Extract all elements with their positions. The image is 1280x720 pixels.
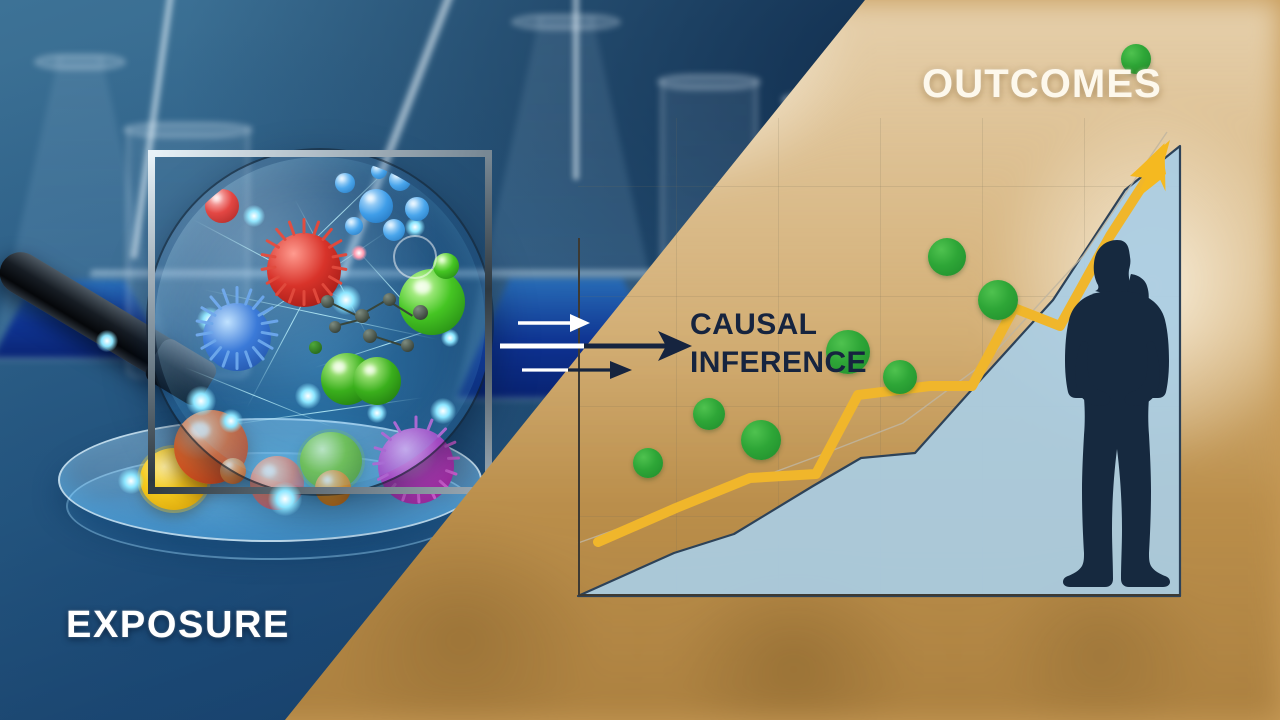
causal-inference-label: CAUSAL INFERENCE [690, 306, 920, 382]
green-large-sphere-icon [399, 269, 465, 335]
outcome-marker [741, 420, 781, 460]
red-spiky-virus-icon [267, 233, 341, 307]
bubble-icon [393, 235, 437, 279]
network-node [367, 403, 387, 423]
sparkle-icon [268, 482, 302, 516]
outcome-marker [928, 238, 966, 276]
red-small-sphere-icon [205, 189, 239, 223]
person-silhouette-icon [1035, 238, 1200, 596]
magnifier-icon [148, 150, 492, 494]
sparkle-icon [118, 468, 144, 494]
outcome-marker [633, 448, 663, 478]
chart-y-axis [578, 238, 580, 596]
outcome-marker [978, 280, 1018, 320]
network-node [331, 285, 361, 315]
exposure-label: EXPOSURE [66, 604, 290, 647]
causal-line-2: INFERENCE [690, 346, 867, 379]
network-node [351, 245, 367, 261]
sparkle-icon [96, 330, 118, 352]
sparkle-icon [186, 386, 216, 416]
network-node [441, 329, 459, 347]
network-node [243, 205, 265, 227]
causal-arrows [500, 300, 720, 410]
network-node [295, 383, 321, 409]
green-sphere-pair-icon [353, 357, 401, 405]
green-sphere-pair-icon [321, 353, 373, 405]
network-node [405, 217, 425, 237]
network-node [219, 409, 243, 433]
composite-image: CAUSAL INFERENCE EXPOSURE OUTCOMES [0, 0, 1280, 720]
blue-spiky-virus-icon [203, 303, 271, 371]
outcomes-label: OUTCOMES [922, 62, 1162, 107]
network-node [197, 307, 223, 333]
green-bud-sphere-icon [433, 253, 459, 279]
arrow-middle [500, 331, 692, 361]
sparkle-icon [430, 398, 456, 424]
molecule-chain-icon [315, 285, 445, 365]
blue-molecule-cluster-icon [333, 167, 429, 245]
arrow-bottom [522, 361, 632, 379]
arrow-top [518, 314, 590, 332]
causal-line-1: CAUSAL [690, 308, 817, 341]
